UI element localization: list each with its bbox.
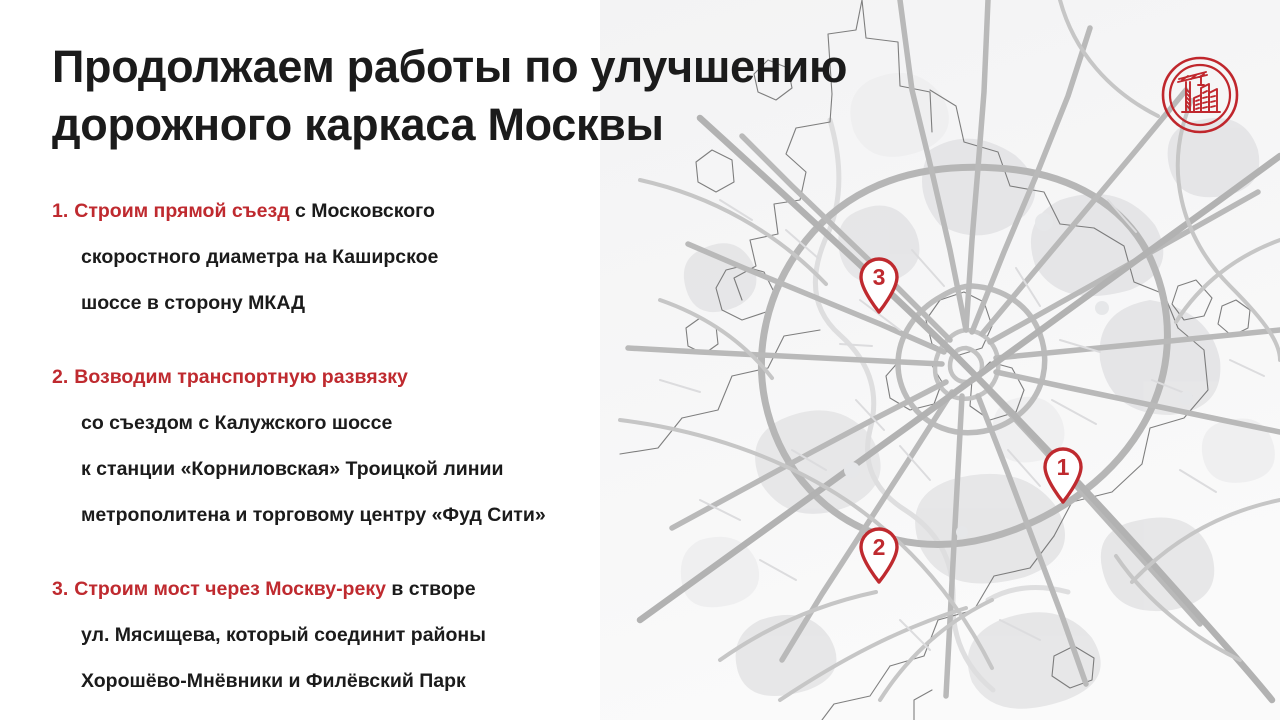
map-marker-3-label: 3 xyxy=(873,264,886,290)
projects-list: 1.Строим прямой съезд с Московского скор… xyxy=(52,188,752,704)
list-item-2-line-2: со съездом с Калужского шоссе xyxy=(52,400,752,446)
list-item-1-highlight: Строим прямой съезд xyxy=(74,200,289,222)
map-pin-icon[interactable]: 2 xyxy=(856,524,902,584)
list-item-2-line-4: метрополитена и торговому центру «Фуд Си… xyxy=(52,492,752,538)
list-item-2-number: 2. xyxy=(52,366,68,388)
map-marker-1[interactable]: 1 xyxy=(1040,444,1086,504)
list-item-2-highlight: Возводим транспортную развязку xyxy=(74,366,408,388)
list-item-1-rest: с Московского xyxy=(290,200,435,222)
list-item-3-number: 3. xyxy=(52,578,68,600)
map-marker-2-label: 2 xyxy=(873,534,886,560)
list-item: 2.Возводим транспортную развязку со съез… xyxy=(52,354,752,538)
title-line-1: Продолжаем работы по улучшению xyxy=(52,38,1062,96)
organization-logo xyxy=(1160,55,1240,135)
list-item: 1.Строим прямой съезд с Московского скор… xyxy=(52,188,752,326)
map-pin-icon[interactable]: 3 xyxy=(856,254,902,314)
list-item-3-line-2: ул. Мясищева, который соединит районы xyxy=(52,612,752,658)
list-item-1-line-1: 1.Строим прямой съезд с Московского xyxy=(52,188,752,234)
map-pin-icon[interactable]: 1 xyxy=(1040,444,1086,504)
map-marker-1-label: 1 xyxy=(1057,454,1070,480)
list-item: 3.Строим мост через Москву-реку в створе… xyxy=(52,566,752,704)
list-item-3-rest: в створе xyxy=(386,578,476,600)
slide-root: Продолжаем работы по улучшению дорожного… xyxy=(0,0,1280,720)
list-item-1-line-2: скоростного диаметра на Каширское xyxy=(52,234,752,280)
construction-crane-icon xyxy=(1160,55,1240,135)
list-item-1-number: 1. xyxy=(52,200,68,222)
list-item-3-line-3: Хорошёво-Мнёвники и Филёвский Парк xyxy=(52,658,752,704)
title-line-2: дорожного каркаса Москвы xyxy=(52,96,1062,154)
list-item-3-highlight: Строим мост через Москву-реку xyxy=(74,578,386,600)
list-item-3-line-1: 3.Строим мост через Москву-реку в створе xyxy=(52,566,752,612)
list-item-2-line-1: 2.Возводим транспортную развязку xyxy=(52,354,752,400)
content-layer: Продолжаем работы по улучшению дорожного… xyxy=(0,0,1280,720)
list-item-2-line-3: к станции «Корниловская» Троицкой линии xyxy=(52,446,752,492)
map-marker-3[interactable]: 3 xyxy=(856,254,902,314)
list-item-1-line-3: шоссе в сторону МКАД xyxy=(52,280,752,326)
map-marker-2[interactable]: 2 xyxy=(856,524,902,584)
page-title: Продолжаем работы по улучшению дорожного… xyxy=(52,38,1062,154)
